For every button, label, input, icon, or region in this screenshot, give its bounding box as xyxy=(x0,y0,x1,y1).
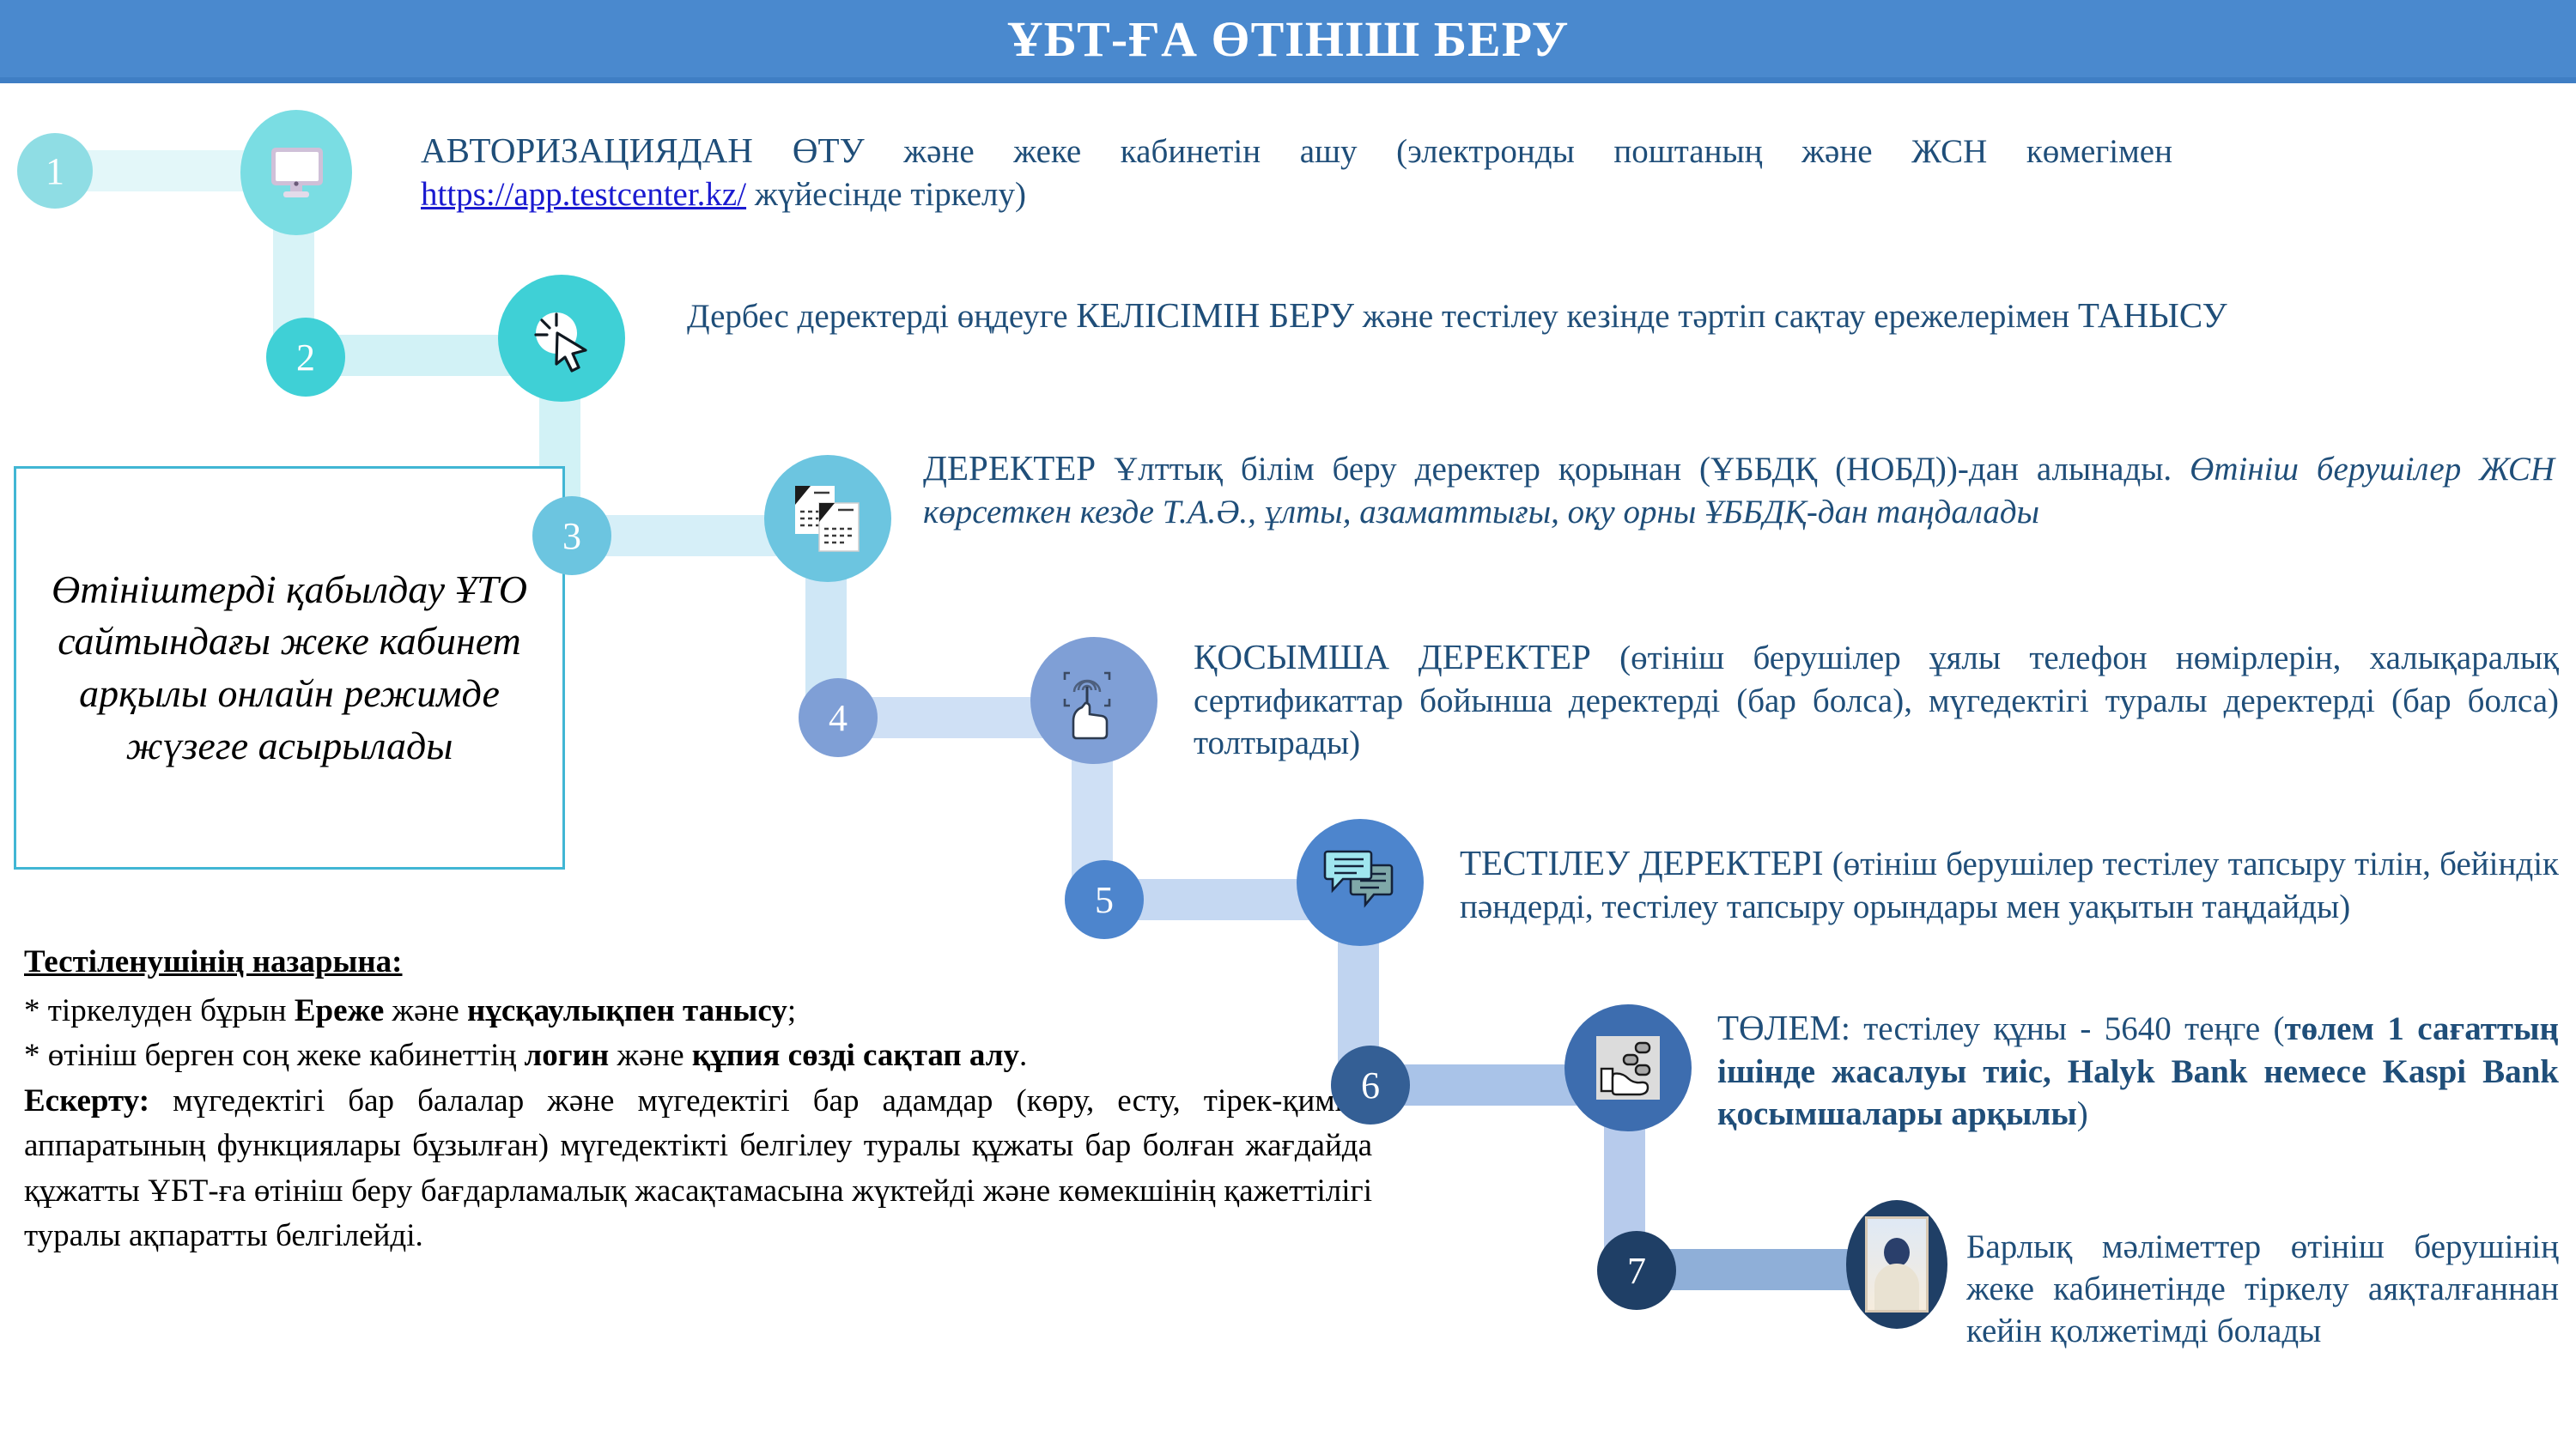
step-6-text: ТӨЛЕМ: тестілеу құны - 5640 теңге (төлем… xyxy=(1717,1006,2559,1135)
note-remark-text: мүгедектігі бар балалар және мүгедектігі… xyxy=(24,1083,1372,1254)
click-cursor-icon xyxy=(520,297,603,379)
note-bullet-2-bold-1: логин xyxy=(525,1038,610,1073)
monitor-icon xyxy=(264,142,328,203)
note-bullet-1: * тіркелуден бұрын Ереже және нұсқаулықп… xyxy=(24,989,1372,1034)
note-block: Тестіленушінің назарына: * тіркелуден бұ… xyxy=(24,940,1372,1259)
step-2-text-a: Дербес деректерді өңдеуге xyxy=(687,298,1076,335)
step-6-text-d: ) xyxy=(2077,1095,2088,1132)
step-1-text-rest: және жеке кабинетін ашу (электронды пошт… xyxy=(865,133,2172,170)
note-title: Тестіленушінің назарына: xyxy=(24,940,1372,985)
note-bullet-1-pre: * тіркелуден бұрын xyxy=(24,993,295,1028)
step-6-number: 6 xyxy=(1361,1064,1380,1107)
payment-hand-coins-icon xyxy=(1591,1031,1665,1105)
step-1-text: АВТОРИЗАЦИЯДАН ӨТУ және жеке кабинетін а… xyxy=(421,129,2172,215)
step-7-number-circle[interactable]: 7 xyxy=(1597,1231,1676,1310)
step-2-number: 2 xyxy=(296,336,315,379)
step-1-text-lead: АВТОРИЗАЦИЯДАН ӨТУ xyxy=(421,130,865,170)
step-3-text-a: ДЕРЕКТЕР xyxy=(923,448,1096,488)
step-2-text-d: ТАНЫСУ xyxy=(2078,295,2227,335)
note-bullet-2-post: . xyxy=(1019,1038,1027,1073)
note-bullet-2-mid: және xyxy=(609,1038,692,1073)
note-bullet-1-bold-2: нұсқаулықпен танысу xyxy=(467,993,787,1028)
callout-box: Өтініштерді қабылдау ҰТО сайтындағы жеке… xyxy=(14,466,565,870)
step-2-icon-circle[interactable] xyxy=(498,275,625,402)
step-7-text-a: Барлық мәліметтер өтініш берушінің жеке … xyxy=(1966,1228,2559,1349)
chat-bubbles-icon xyxy=(1319,846,1401,919)
step-5-number: 5 xyxy=(1095,878,1114,922)
header-divider xyxy=(0,77,2576,83)
note-remark: Ескерту: мүгедектігі бар балалар және мү… xyxy=(24,1079,1372,1259)
step-7-text: Барлық мәліметтер өтініш берушінің жеке … xyxy=(1966,1226,2559,1352)
step-2-text-c: және тестілеу кезінде тәртіп сақтау ереж… xyxy=(1354,298,2078,335)
step-3-text: ДЕРЕКТЕР Ұлттық білім беру деректер қоры… xyxy=(923,446,2555,533)
step-5-icon-circle[interactable] xyxy=(1297,819,1424,946)
photo-portrait-icon xyxy=(1865,1216,1929,1313)
step-6-number-circle[interactable]: 6 xyxy=(1331,1046,1410,1125)
step-2-number-circle[interactable]: 2 xyxy=(266,318,345,397)
documents-icon xyxy=(788,479,867,558)
note-remark-label: Ескерту: xyxy=(24,1083,149,1119)
step-1-number: 1 xyxy=(46,149,64,193)
step-4-text: ҚОСЫМША ДЕРЕКТЕР (өтініш берушілер ұялы … xyxy=(1194,635,2559,764)
step-5-text: ТЕСТІЛЕУ ДЕРЕКТЕРІ (өтініш берушілер тес… xyxy=(1460,841,2559,928)
note-bullet-2-bold-2: құпия сөзді сақтап алу xyxy=(692,1038,1019,1073)
note-bullet-1-post: ; xyxy=(787,993,796,1028)
step-4-text-a: ҚОСЫМША ДЕРЕКТЕР xyxy=(1194,637,1591,676)
step-7-icon-circle[interactable] xyxy=(1846,1200,1947,1329)
step-6-text-b: : тестілеу құны - 5640 теңге ( xyxy=(1841,1010,2285,1047)
callout-text: Өтініштерді қабылдау ҰТО сайтындағы жеке… xyxy=(16,564,562,773)
note-bullet-1-mid: және xyxy=(384,993,467,1028)
step-6-text-a: ТӨЛЕМ xyxy=(1717,1008,1841,1047)
page-header: ҰБТ-ҒА ӨТІНІШ БЕРУ xyxy=(0,0,2576,77)
fingerprint-touch-icon xyxy=(1056,661,1132,740)
testcenter-link[interactable]: https://app.testcenter.kz/ xyxy=(421,176,746,213)
note-bullet-1-bold-1: Ереже xyxy=(295,993,384,1028)
page-title: ҰБТ-ҒА ӨТІНІШ БЕРУ xyxy=(1007,10,1570,68)
step-3-text-b: Ұлттық білім беру деректер қорынан (ҰББД… xyxy=(1096,451,2190,488)
step-2-text: Дербес деректерді өңдеуге КЕЛІСІМІН БЕРУ… xyxy=(687,294,2430,338)
step-4-number: 4 xyxy=(829,696,848,740)
step-4-icon-circle[interactable] xyxy=(1030,637,1157,764)
step-6-icon-circle[interactable] xyxy=(1564,1004,1692,1131)
step-3-number: 3 xyxy=(562,514,581,558)
step-3-icon-circle[interactable] xyxy=(764,455,891,582)
step-5-number-circle[interactable]: 5 xyxy=(1065,860,1144,939)
step-1-number-circle[interactable]: 1 xyxy=(17,133,93,209)
step-3-number-circle[interactable]: 3 xyxy=(532,496,611,575)
step-2-text-b: КЕЛІСІМІН БЕРУ xyxy=(1076,295,1354,335)
step-7-number: 7 xyxy=(1627,1249,1646,1293)
step-1-icon-circle[interactable] xyxy=(240,110,352,235)
note-bullet-2-pre: * өтініш берген соң жеке кабинеттің xyxy=(24,1038,525,1073)
step-4-number-circle[interactable]: 4 xyxy=(799,678,878,757)
step-1-text-tail: жүйесінде тіркелу) xyxy=(746,176,1026,213)
infographic-canvas: ҰБТ-ҒА ӨТІНІШ БЕРУ 1 xyxy=(0,0,2576,1449)
step-5-text-a: ТЕСТІЛЕУ ДЕРЕКТЕРІ xyxy=(1460,843,1824,882)
note-bullet-2: * өтініш берген соң жеке кабинеттің логи… xyxy=(24,1034,1372,1079)
